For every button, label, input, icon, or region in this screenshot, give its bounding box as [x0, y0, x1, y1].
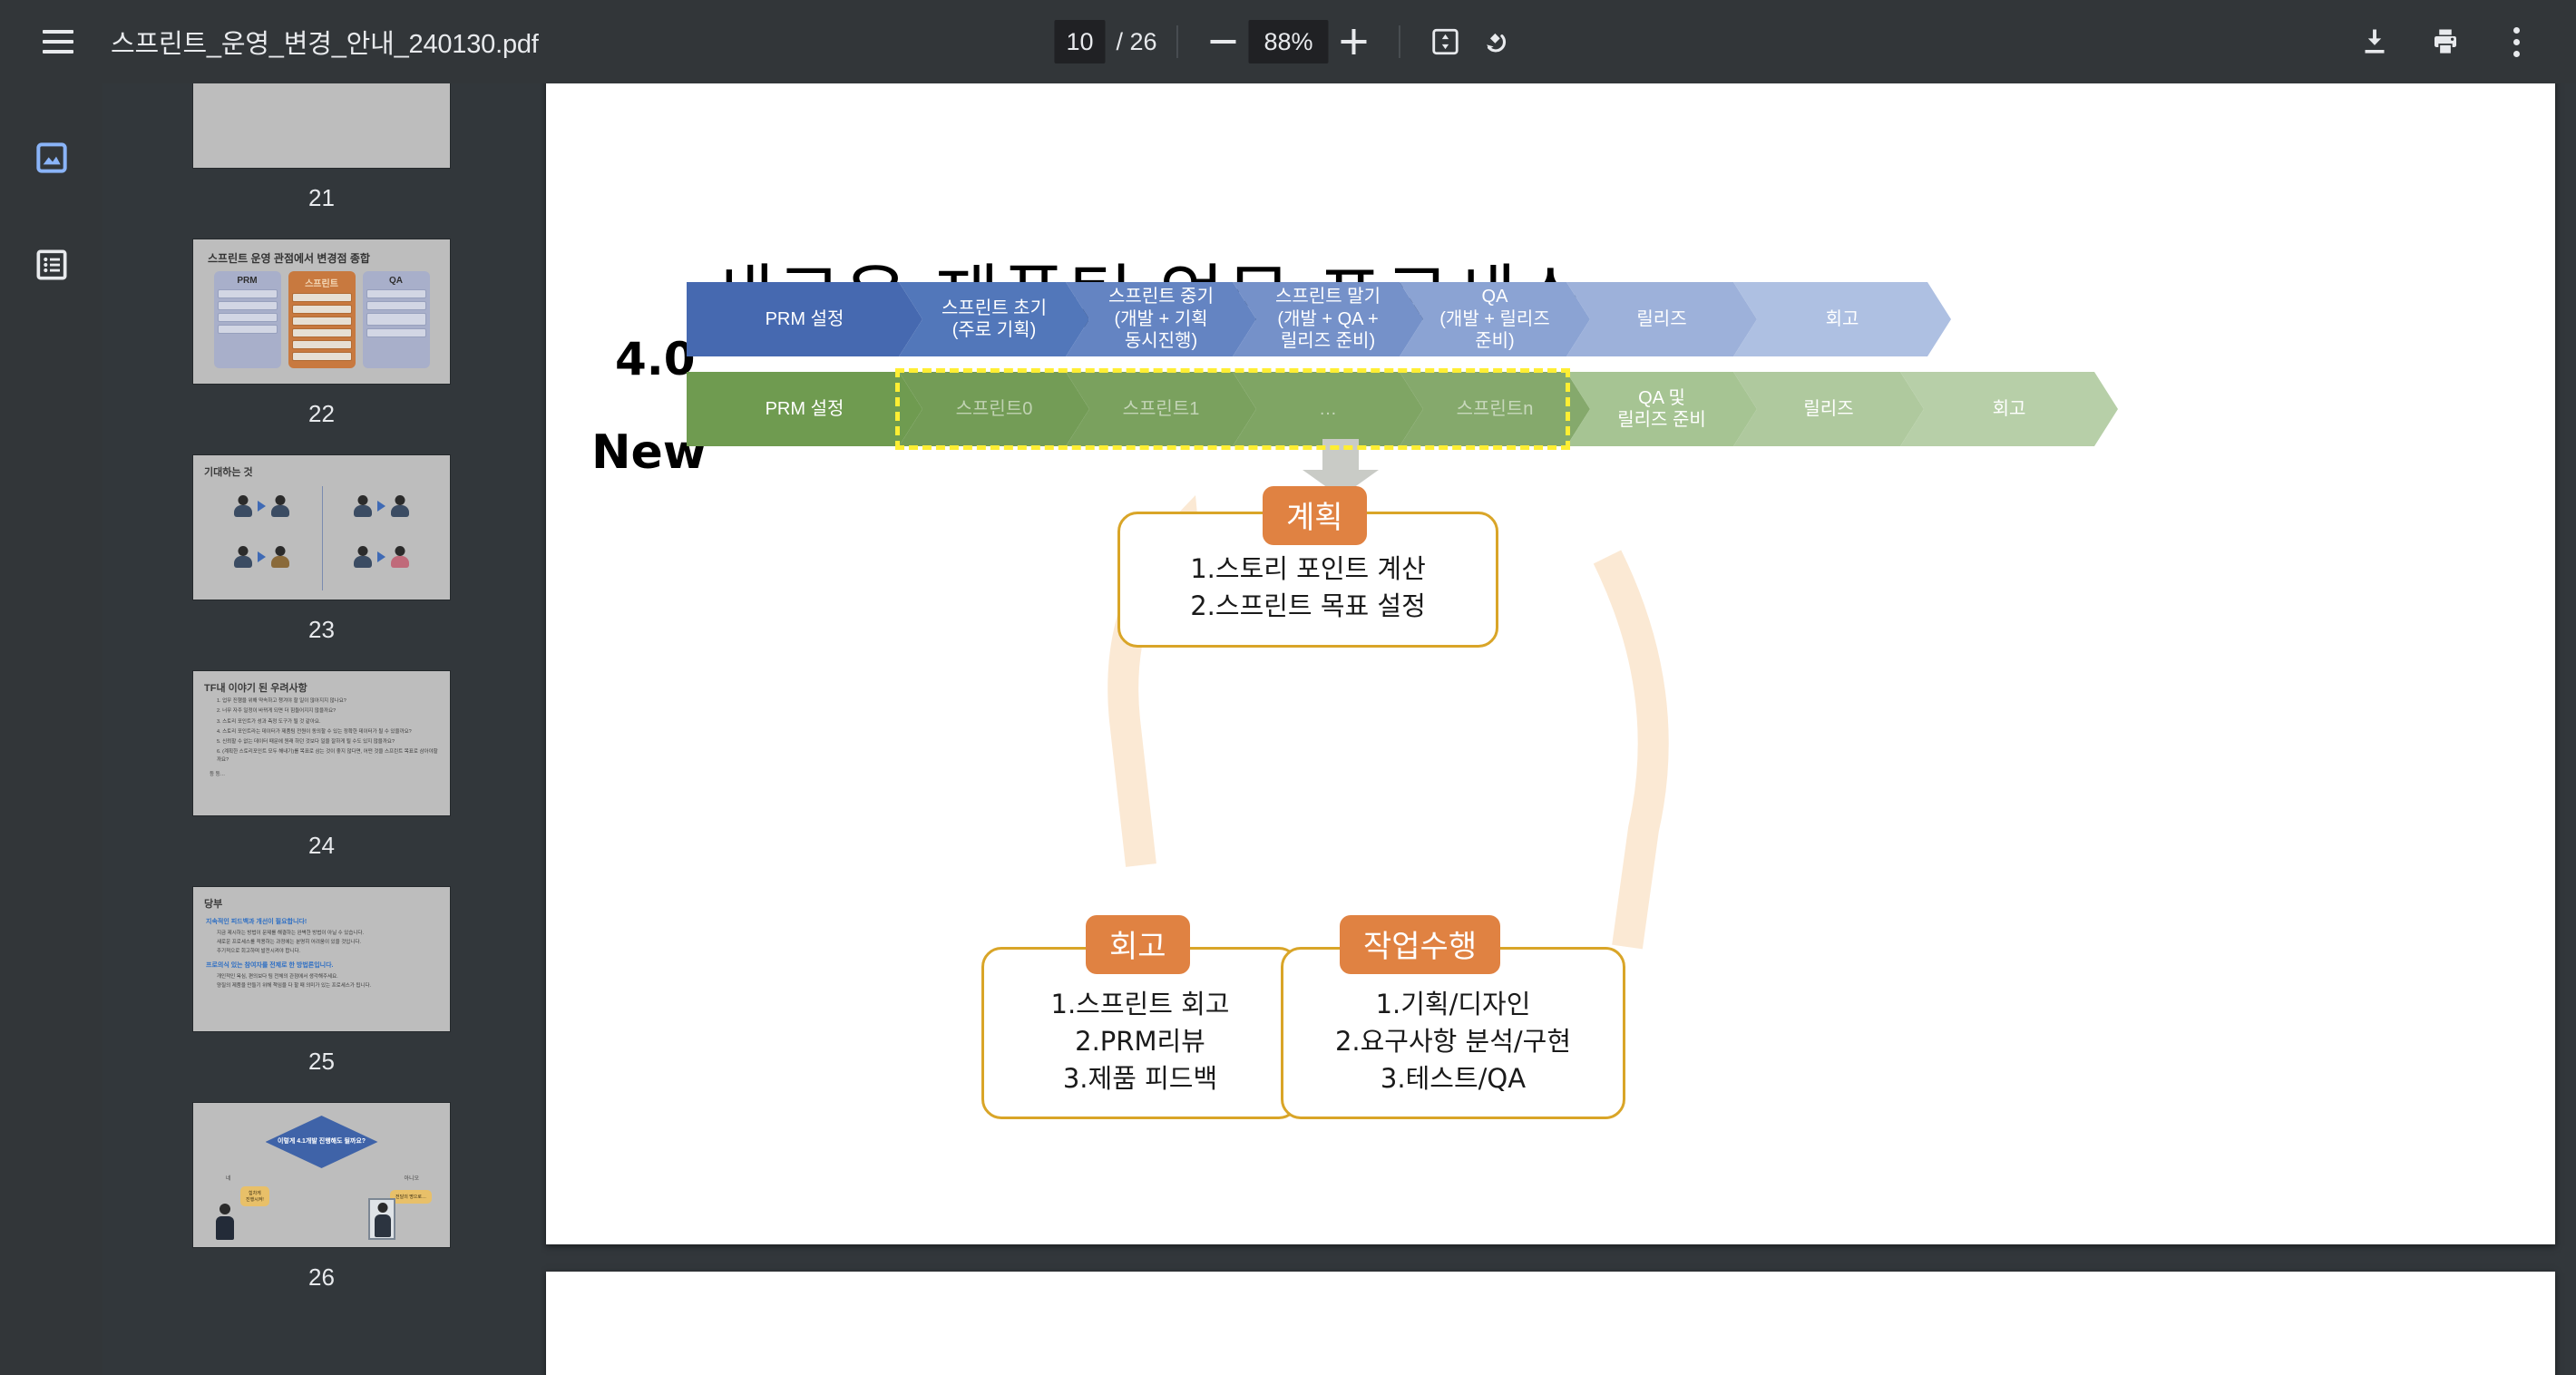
- mini-25-item: 지금 제시하는 방법이 문제를 해결하는 완벽한 방법이 아닐 수 있습니다.: [217, 929, 439, 936]
- more-options-button[interactable]: [2487, 13, 2545, 71]
- mini-23-cell: [204, 483, 320, 530]
- process-step: PRM 설정: [687, 372, 922, 446]
- process-row-new: PRM 설정스프린트0스프린트1…스프린트nQA 및 릴리즈 준비릴리즈회고: [687, 372, 2094, 446]
- mini-22-col-header: PRM: [218, 276, 278, 286]
- mini-25-item: 새로운 프로세스를 적용하는 과정에는 분명히 어려움이 있을 것입니다.: [217, 938, 439, 945]
- row-label-4-0: 4.0: [615, 333, 696, 385]
- mini-26-no-bubble: 전달의 명으로…: [390, 1190, 432, 1204]
- process-step-label: 회고: [1826, 308, 1859, 330]
- mini-22-col-sprint: 스프린트: [288, 271, 356, 368]
- pdf-viewer[interactable]: 새로운 제품팀 업무 프로세스 4.0 PRM 설정스프린트 초기 (주로 기획…: [541, 83, 2576, 1375]
- mini-24-item: 3. 스토리 포인트가 성과 측정 도구가 될 것 같아요.: [217, 718, 439, 726]
- process-step-label: PRM 설정: [766, 398, 844, 420]
- plan-item-2: 2.스프린트 목표 설정: [1140, 588, 1476, 625]
- thumbnail-number: 25: [308, 1048, 335, 1076]
- process-step-label: …: [1319, 398, 1337, 420]
- toolbar-divider-2: [1400, 25, 1400, 58]
- fit-to-page-icon: [1430, 26, 1461, 57]
- mini-24-item: 6. (계획한 스토리포인트 모두 해내기)를 목표로 삼는 것이 좋지 않다면…: [217, 748, 439, 764]
- process-step-label: 릴리즈: [1636, 308, 1686, 330]
- thumbnail-item[interactable]: 스프린트 운영 관점에서 변경점 종합 PRM 스프린트 QA: [102, 239, 541, 450]
- plan-item-1: 1.스토리 포인트 계산: [1140, 551, 1476, 588]
- process-step: 릴리즈: [1733, 372, 1924, 446]
- mini-22-title: 스프린트 운영 관점에서 변경점 종합: [208, 250, 439, 266]
- mini-24-footer: 등 등…: [210, 771, 439, 778]
- exec-item-3: 3.테스트/QA: [1303, 1060, 1603, 1097]
- mini-25-heading: 프로의식 있는 참여자를 전제로 한 방법론입니다.: [206, 961, 439, 970]
- page-number-input[interactable]: [1054, 20, 1105, 63]
- hamburger-menu-icon[interactable]: [29, 13, 87, 71]
- process-step: …: [1233, 372, 1423, 446]
- sidebar-rail: [0, 83, 102, 1375]
- retro-item-2: 2.PRM리뷰: [1004, 1023, 1276, 1060]
- sidebar-item-outline[interactable]: [23, 236, 81, 294]
- process-step: 스프린트0: [899, 372, 1089, 446]
- process-step-label: 스프린트 초기 (주로 기획): [942, 297, 1047, 342]
- process-step: 릴리즈: [1566, 282, 1757, 356]
- cycle-tag-plan: 계획: [1263, 486, 1367, 545]
- thumbnail-item[interactable]: 등 등 감사합니다! 21: [102, 83, 541, 234]
- process-step-label: 스프린트 중기 (개발 + 기획 동시진행): [1108, 286, 1214, 352]
- mini-26-person-left: [213, 1204, 237, 1240]
- mini-22-col-prm: PRM: [214, 271, 281, 368]
- thumbnail-item[interactable]: 이렇게 4.1개발 진행해도 될까요? 네 아니오 힘차게 진행시켜! 전달의 …: [102, 1103, 541, 1313]
- zoom-out-button[interactable]: [1198, 16, 1249, 67]
- process-step-label: 스프린트0: [956, 398, 1033, 420]
- thumbnail-page-21[interactable]: 등 등 감사합니다!: [193, 83, 450, 168]
- thumbnail-number: 24: [308, 832, 335, 860]
- zoom-level-value[interactable]: 88%: [1249, 20, 1329, 63]
- mini-26-decision: 이렇게 4.1개발 진행해도 될까요?: [266, 1116, 378, 1168]
- mini-24-item: 5. 신뢰할 수 없는 데이터 때문에 원래 하던 것보다 일을 잘하게 될 수…: [217, 738, 439, 746]
- toolbar-center-group: / 26 88%: [1054, 0, 1521, 83]
- process-step: 회고: [1733, 282, 1951, 356]
- mini-25-heading: 지속적인 피드백과 개선이 필요합니다!: [206, 917, 439, 926]
- sidebar-item-thumbnails[interactable]: [23, 129, 81, 187]
- more-dot-1: [2513, 27, 2520, 34]
- mini-22-columns: PRM 스프린트 QA: [204, 271, 439, 368]
- mini-23-cell: [204, 533, 320, 580]
- mini-22-col-qa: QA: [363, 271, 430, 368]
- process-step: 스프린트1: [1066, 372, 1256, 446]
- process-step: 스프린트n: [1400, 372, 1590, 446]
- mini-22-col-header: QA: [366, 276, 426, 286]
- print-icon: [2429, 25, 2462, 58]
- process-step-label: 스프린트1: [1123, 398, 1200, 420]
- thumbnail-number: 22: [308, 400, 335, 428]
- pdf-toolbar: 스프린트_운영_변경_안내_240130.pdf / 26 88%: [0, 0, 2576, 83]
- process-step-label: 릴리즈: [1803, 398, 1853, 420]
- process-step-label: 스프린트n: [1457, 398, 1534, 420]
- mini-slide-25: 당부 지속적인 피드백과 개선이 필요합니다! 지금 제시하는 방법이 문제를 …: [193, 887, 450, 1031]
- cycle-node-execution-items: 1.기획/디자인 2.요구사항 분석/구현 3.테스트/QA: [1283, 950, 1623, 1115]
- mini-24-item: 4. 스토리 포인트라는 데이터가 제품팀 전원이 동의할 수 있는 정확한 데…: [217, 728, 439, 736]
- mini-slide-24: TF내 이야기 된 우려사항 1. 업무 진행을 위해 약속하고 챙겨야 할 일…: [193, 671, 450, 815]
- mini-25-title: 당부: [204, 896, 439, 911]
- more-dot-3: [2513, 51, 2520, 57]
- cycle-node-retrospective-items: 1.스프린트 회고 2.PRM리뷰 3.제품 피드백: [984, 950, 1296, 1115]
- process-step-label: QA (개발 + 릴리즈 준비): [1439, 286, 1549, 352]
- thumbnail-item[interactable]: 당부 지속적인 피드백과 개선이 필요합니다! 지금 제시하는 방법이 문제를 …: [102, 887, 541, 1097]
- thumbnail-list: 등 등 감사합니다! 21 스프린트 운영 관점에서 변경점 종합: [102, 83, 541, 1319]
- cycle-tag-execution: 작업수행: [1340, 915, 1500, 974]
- mini-22-col-header: 스프린트: [292, 276, 352, 289]
- thumbnail-number: 21: [308, 184, 335, 212]
- mini-25-item: 주기적으로 회고하며 발전시켜야 합니다.: [217, 947, 439, 954]
- zoom-in-button[interactable]: [1329, 16, 1380, 67]
- thumbnail-number: 23: [308, 616, 335, 644]
- pdf-page-stack: 새로운 제품팀 업무 프로세스 4.0 PRM 설정스프린트 초기 (주로 기획…: [541, 83, 2576, 1375]
- toolbar-right-group: [2346, 13, 2576, 71]
- process-step: PRM 설정: [687, 282, 922, 356]
- process-step: QA 및 릴리즈 준비: [1566, 372, 1757, 446]
- process-step: 스프린트 초기 (주로 기획): [899, 282, 1089, 356]
- thumbnail-pane[interactable]: 등 등 감사합니다! 21 스프린트 운영 관점에서 변경점 종합: [102, 83, 541, 1375]
- fit-to-page-button[interactable]: [1420, 16, 1471, 67]
- process-step-label: PRM 설정: [766, 308, 844, 330]
- thumbnail-view-icon: [34, 140, 70, 176]
- download-button[interactable]: [2346, 13, 2404, 71]
- mini-26-yes-bubble: 힘차게 진행시켜!: [240, 1186, 269, 1206]
- thumbnail-page-23[interactable]: 기대하는 것: [193, 455, 450, 600]
- pdf-page-11: [546, 1272, 2555, 1375]
- thumbnail-page-26[interactable]: 이렇게 4.1개발 진행해도 될까요? 네 아니오 힘차게 진행시켜! 전달의 …: [193, 1103, 450, 1247]
- plus-icon: [1342, 29, 1367, 54]
- mini-24-item: 2. 너무 자주 일정이 바뀌게 되면 더 힘들어지지 않을까요?: [217, 707, 439, 715]
- thumbnail-page-25[interactable]: 당부 지속적인 피드백과 개선이 필요합니다! 지금 제시하는 방법이 문제를 …: [193, 887, 450, 1031]
- rotate-icon: [1481, 26, 1512, 57]
- minus-icon: [1211, 40, 1236, 44]
- mini-23-title: 기대하는 것: [204, 464, 439, 479]
- toolbar-divider-1: [1177, 25, 1178, 58]
- mini-24-item: 1. 업무 진행을 위해 약속하고 챙겨야 할 일이 많아지지 않나요?: [217, 697, 439, 705]
- mini-23-cell: [324, 483, 440, 530]
- download-icon: [2358, 25, 2391, 58]
- process-step: QA (개발 + 릴리즈 준비): [1400, 282, 1590, 356]
- pdf-page-10: 새로운 제품팀 업무 프로세스 4.0 PRM 설정스프린트 초기 (주로 기획…: [546, 83, 2555, 1244]
- mini-slide-21: 등 등 감사합니다!: [193, 83, 450, 168]
- exec-item-2: 2.요구사항 분석/구현: [1303, 1023, 1603, 1060]
- retro-item-1: 1.스프린트 회고: [1004, 986, 1276, 1023]
- mini-slide-26: 이렇게 4.1개발 진행해도 될까요? 네 아니오 힘차게 진행시켜! 전달의 …: [193, 1103, 450, 1247]
- document-title: 스프린트_운영_변경_안내_240130.pdf: [111, 23, 539, 61]
- page-total-label: / 26: [1116, 28, 1156, 56]
- process-row-4-0: PRM 설정스프린트 초기 (주로 기획)스프린트 중기 (개발 + 기획 동시…: [687, 282, 1927, 356]
- retro-item-3: 3.제품 피드백: [1004, 1060, 1276, 1097]
- process-step-label: 회고: [1993, 398, 2026, 420]
- document-outline-icon: [34, 247, 70, 283]
- process-step: 회고: [1900, 372, 2118, 446]
- mini-26-no-label: 아니오: [404, 1174, 419, 1182]
- mini-25-item: 양질의 제품을 만들기 위해 책임을 다 할 때 의미가 있는 프로세스가 됩니…: [217, 981, 439, 989]
- more-dot-2: [2513, 39, 2520, 45]
- thumbnail-number: 26: [308, 1263, 335, 1292]
- cycle-tag-retrospective: 회고: [1086, 915, 1190, 974]
- mini-26-person-right: [368, 1198, 395, 1240]
- exec-item-1: 1.기획/디자인: [1303, 986, 1603, 1023]
- process-step-label: QA 및 릴리즈 준비: [1617, 387, 1706, 432]
- thumbnail-item[interactable]: TF내 이야기 된 우려사항 1. 업무 진행을 위해 약속하고 챙겨야 할 일…: [102, 671, 541, 882]
- thumbnail-page-22[interactable]: 스프린트 운영 관점에서 변경점 종합 PRM 스프린트 QA: [193, 239, 450, 384]
- process-step-label: 스프린트 말기 (개발 + QA + 릴리즈 준비): [1275, 286, 1381, 352]
- rotate-button[interactable]: [1471, 16, 1522, 67]
- mini-25-item: 개인적인 욕심, 편의보다 팀 전체의 관점에서 생각해주세요.: [217, 972, 439, 980]
- mini-slide-23: 기대하는 것: [193, 455, 450, 600]
- toolbar-left-group: 스프린트_운영_변경_안내_240130.pdf: [0, 13, 539, 71]
- thumbnail-item[interactable]: 기대하는 것 23: [102, 455, 541, 666]
- mini-23-cell: [324, 533, 440, 580]
- print-button[interactable]: [2416, 13, 2474, 71]
- process-step: 스프린트 말기 (개발 + QA + 릴리즈 준비): [1233, 282, 1423, 356]
- process-step: 스프린트 중기 (개발 + 기획 동시진행): [1066, 282, 1256, 356]
- mini-26-yes-label: 네: [226, 1174, 231, 1182]
- thumbnail-page-24[interactable]: TF내 이야기 된 우려사항 1. 업무 진행을 위해 약속하고 챙겨야 할 일…: [193, 671, 450, 815]
- mini-slide-22: 스프린트 운영 관점에서 변경점 종합 PRM 스프린트 QA: [193, 239, 450, 384]
- mini-24-title: TF내 이야기 된 우려사항: [204, 680, 439, 695]
- mini-23-divider: [322, 486, 323, 590]
